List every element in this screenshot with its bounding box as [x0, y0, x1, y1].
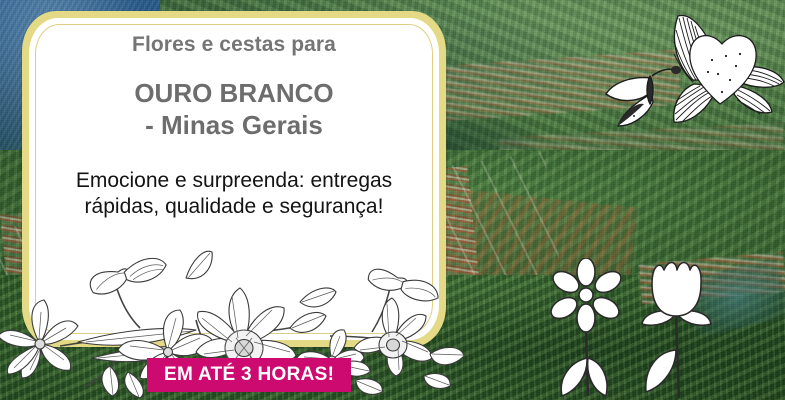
tagline-text: Emocione e surpreenda: entregas rápidas,… [76, 168, 392, 221]
tagline-line-2: rápidas, qualidade e segurança! [76, 194, 392, 220]
city-line-1: OURO BRANCO [134, 78, 333, 110]
kicker-text: Flores e cestas para [132, 33, 336, 56]
tagline-line-1: Emocione e surpreenda: entregas [76, 168, 392, 194]
promo-banner: Flores e cestas para OURO BRANCO - Minas… [0, 0, 785, 400]
delivery-time-badge[interactable]: EM ATÉ 3 HORAS! [147, 358, 351, 392]
card-text-block: Flores e cestas para OURO BRANCO - Minas… [22, 11, 446, 347]
city-title: OURO BRANCO - Minas Gerais [134, 78, 333, 141]
city-line-2: - Minas Gerais [134, 110, 333, 142]
